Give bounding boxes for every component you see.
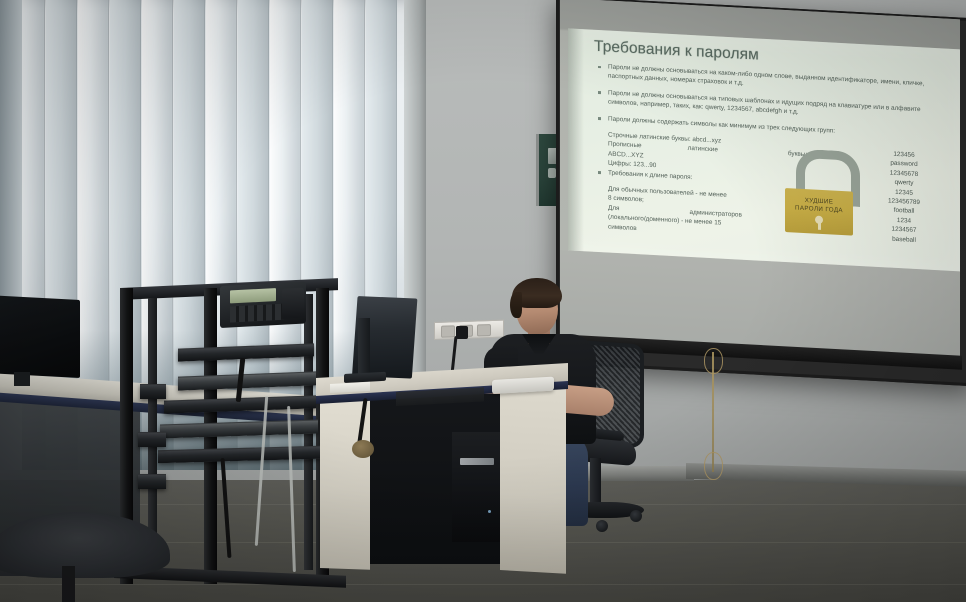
desk-cable-coil <box>352 440 374 458</box>
desk-right-panel <box>500 380 566 574</box>
classroom-photo: Требования к паролям Пароли не должны ос… <box>0 0 966 602</box>
side-monitor[interactable] <box>0 296 80 378</box>
rack-unit-1 <box>178 343 314 361</box>
phone-screen <box>230 288 276 303</box>
rack-bracket-c <box>138 474 166 489</box>
padlock-icon: ХУДШИЕ ПАРОЛИ ГОДА <box>782 148 856 260</box>
phone-handset[interactable] <box>282 288 304 319</box>
voip-phone[interactable] <box>220 281 306 328</box>
charset-upper-b: латинские <box>688 145 718 154</box>
desk-monitor-neck <box>358 318 370 378</box>
screen-pull-cord-ring-bottom[interactable] <box>704 452 723 480</box>
worst-password-list: 123456 password 12345678 qwerty 12345 12… <box>864 148 944 246</box>
socket-plug[interactable] <box>456 326 468 339</box>
phone-keypad[interactable] <box>230 304 284 323</box>
slide-shadow-band <box>568 28 584 251</box>
rack-cable-black-2 <box>221 458 232 558</box>
padlock-keyhole-slot <box>818 222 821 230</box>
rack-bracket-a <box>140 384 166 399</box>
rack-bracket-b <box>138 432 166 447</box>
pc-tower[interactable] <box>452 432 500 542</box>
pc-tower-badge <box>460 458 494 465</box>
rack-unit-4 <box>160 420 318 439</box>
charset-upper-a: Прописные <box>608 141 642 150</box>
slide-title: Требования к паролям <box>594 38 759 65</box>
presentation-slide: Требования к паролям Пароли не должны ос… <box>568 28 960 271</box>
length-admins-a: Для <box>608 204 620 212</box>
foreground-chair-post <box>62 566 75 602</box>
side-monitor-stand <box>14 372 30 386</box>
rack-unit-2 <box>178 371 316 390</box>
padlock-body: ХУДШИЕ ПАРОЛИ ГОДА <box>785 188 853 236</box>
presenter-hair-side <box>510 292 522 318</box>
rack-cable-white-1 <box>255 396 268 546</box>
rack-unit-5 <box>158 446 320 464</box>
screen-pull-cord-ring-top[interactable] <box>704 348 723 374</box>
pc-power-led <box>488 510 491 513</box>
chalkboard-mark-secondary <box>548 168 556 178</box>
